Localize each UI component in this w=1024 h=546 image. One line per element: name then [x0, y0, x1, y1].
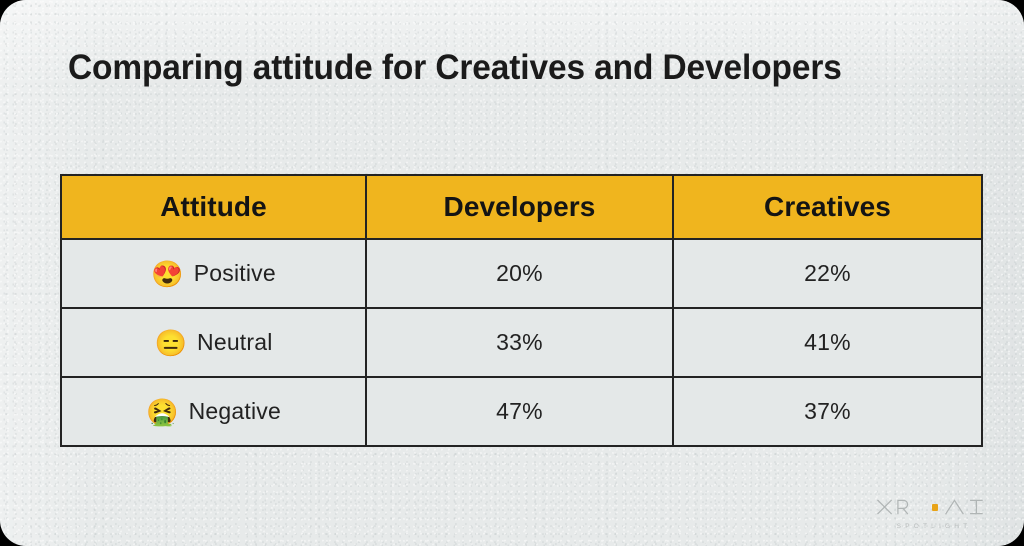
face-vomiting-icon: 🤮	[146, 399, 179, 425]
attitude-label: Positive	[194, 260, 276, 287]
logo-mark	[876, 494, 988, 520]
expressionless-face-icon: 😑	[154, 330, 187, 356]
table-row: 🤮 Negative 47% 37%	[61, 377, 982, 446]
table-header: Attitude Developers Creatives	[61, 175, 982, 239]
xr-lettermark-icon	[876, 496, 926, 518]
logo-subtitle: SPOTLIGHT	[876, 523, 988, 530]
cell-developers-neutral: 33%	[366, 308, 673, 377]
cell-attitude-positive: 😍 Positive	[61, 239, 366, 308]
table-header-row: Attitude Developers Creatives	[61, 175, 982, 239]
value-creatives-neutral: 41%	[674, 329, 981, 356]
column-header-attitude: Attitude	[61, 175, 366, 239]
page-title: Comparing attitude for Creatives and Dev…	[68, 48, 842, 88]
slide-canvas: Comparing attitude for Creatives and Dev…	[0, 0, 1024, 546]
cell-developers-positive: 20%	[366, 239, 673, 308]
logo-dot-icon	[932, 504, 939, 511]
value-creatives-positive: 22%	[674, 260, 981, 287]
table-row: 😍 Positive 20% 22%	[61, 239, 982, 308]
cell-attitude-neutral: 😑 Neutral	[61, 308, 366, 377]
attitude-table: Attitude Developers Creatives 😍 Positive…	[60, 174, 983, 447]
cell-creatives-positive: 22%	[673, 239, 982, 308]
cell-developers-negative: 47%	[366, 377, 673, 446]
column-header-creatives: Creatives	[673, 175, 982, 239]
attitude-label: Negative	[189, 398, 281, 425]
smiling-face-with-heart-eyes-icon: 😍	[151, 261, 184, 287]
column-header-developers: Developers	[366, 175, 673, 239]
cell-creatives-negative: 37%	[673, 377, 982, 446]
value-developers-negative: 47%	[367, 398, 672, 425]
table-body: 😍 Positive 20% 22% 😑 Neutral	[61, 239, 982, 446]
brand-logo: SPOTLIGHT	[876, 494, 988, 530]
table-row: 😑 Neutral 33% 41%	[61, 308, 982, 377]
value-developers-positive: 20%	[367, 260, 672, 287]
value-creatives-negative: 37%	[674, 398, 981, 425]
cell-creatives-neutral: 41%	[673, 308, 982, 377]
ai-lettermark-icon	[944, 496, 988, 518]
value-developers-neutral: 33%	[367, 329, 672, 356]
attitude-label: Neutral	[197, 329, 273, 356]
cell-attitude-negative: 🤮 Negative	[61, 377, 366, 446]
